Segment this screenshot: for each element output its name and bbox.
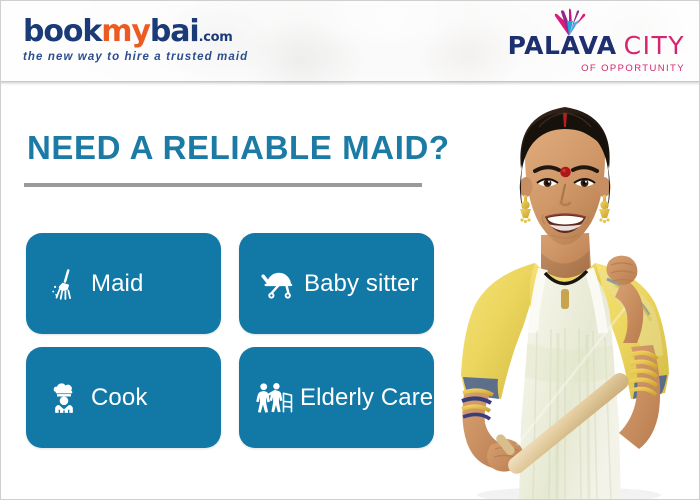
service-label: Elderly Care [300,384,433,412]
logo-text-book: book [23,14,101,49]
page-title: NEED A RELIABLE MAID? [27,129,450,167]
hero-image-maid [439,93,700,500]
earring-left [520,195,531,223]
title-divider-rule [24,183,422,187]
service-tile-maid[interactable]: Maid [26,233,221,334]
elderly-walker-icon [255,379,295,417]
bookmybai-logo[interactable]: bookmybai.com the new way to hire a trus… [23,17,248,63]
broom-icon [46,265,82,303]
city-text: CITY [624,31,685,60]
header-divider-shadow [1,81,700,86]
logo-text-my: my [101,14,150,49]
service-tile-grid: Maid Baby sitter [26,233,446,448]
logo-text-bai: bai [150,14,199,49]
service-tile-elderly-care[interactable]: Elderly Care [239,347,434,448]
service-tile-cook[interactable]: Cook [26,347,221,448]
advertisement-banner: bookmybai.com the new way to hire a trus… [0,0,700,500]
service-label: Baby sitter [304,270,418,298]
chef-icon [46,379,82,417]
palava-wordmark-row: PALAVA CITY [508,31,685,60]
earring-right [599,195,610,223]
logo-text-com: .com [199,30,233,45]
palava-tagline: OF OPPORTUNITY [508,63,685,74]
bookmybai-wordmark: bookmybai.com [23,17,248,47]
service-tile-baby-sitter[interactable]: Baby sitter [239,233,434,334]
palava-city-logo[interactable]: PALAVA CITY OF OPPORTUNITY [508,13,685,74]
logo-tagline: the new way to hire a trusted maid [23,51,248,63]
service-label: Maid [91,270,143,298]
stroller-icon [259,265,295,303]
service-label: Cook [91,384,147,412]
crown-fan-icon [543,7,595,37]
